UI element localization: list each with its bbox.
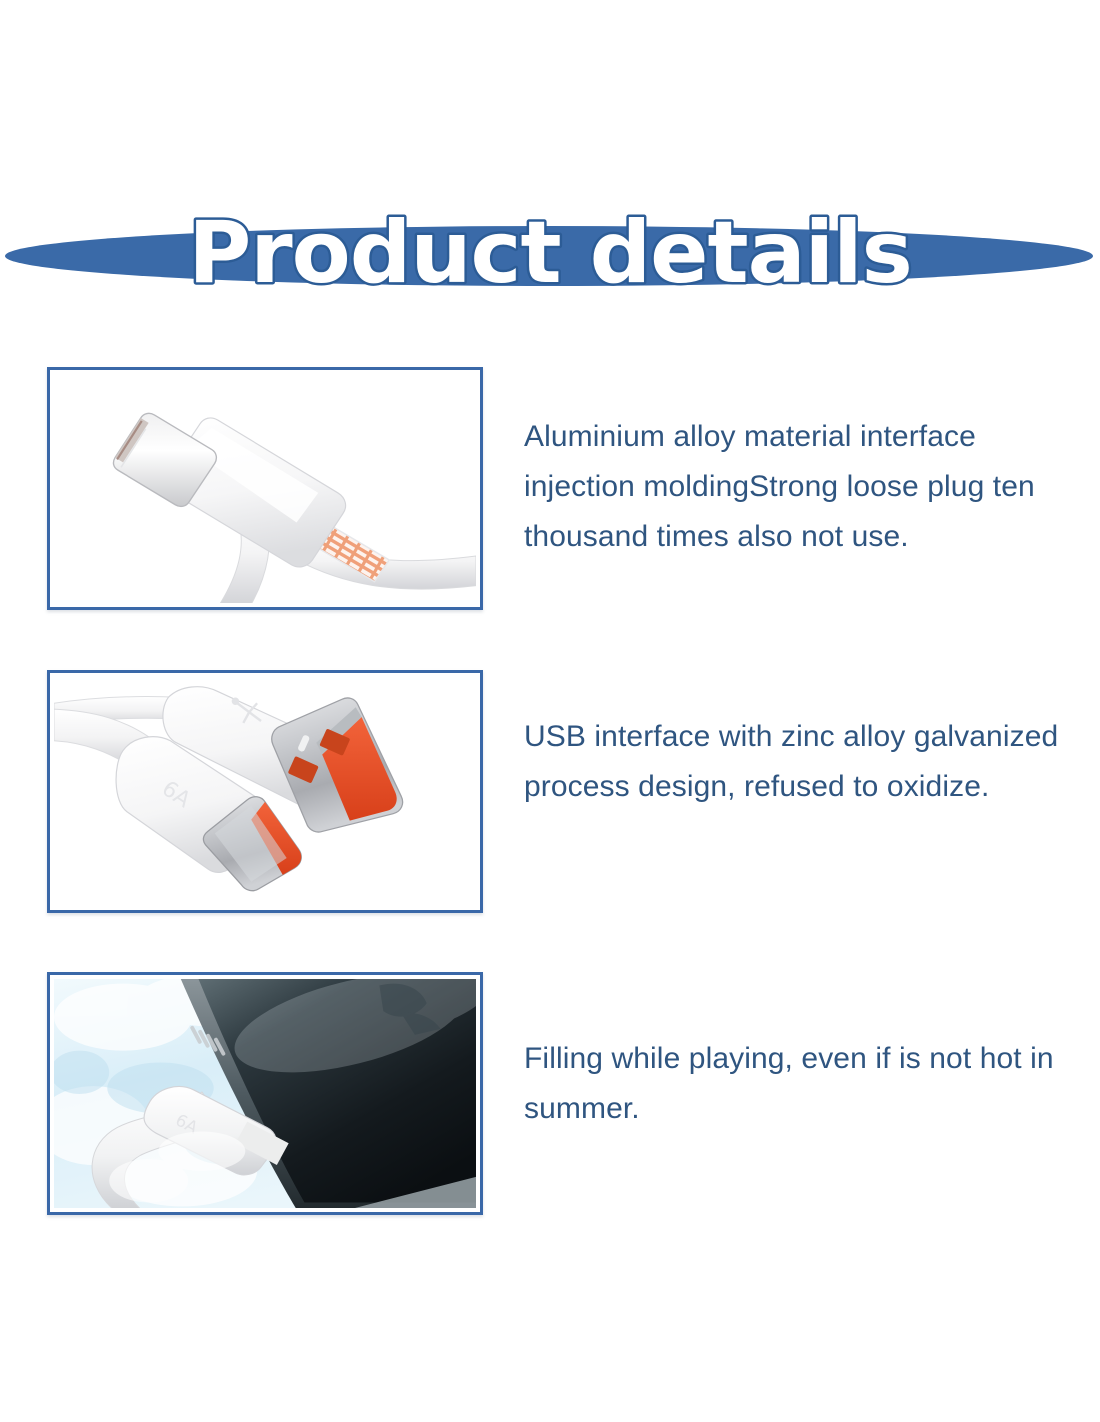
phone-charging-photo-frame[interactable]: 6A bbox=[47, 972, 483, 1215]
detail-text: Aluminium alloy material interface injec… bbox=[524, 412, 1064, 562]
page-title: Product details bbox=[0, 196, 1100, 314]
phone-charging-illustration: 6A bbox=[54, 979, 476, 1208]
usb-c-connector-illustration bbox=[54, 374, 476, 603]
page-title-text: Product details bbox=[188, 203, 912, 303]
detail-row: 6A Filling while playing, even if is not… bbox=[0, 972, 1100, 1215]
usb-c-connector-photo-frame[interactable] bbox=[47, 367, 483, 610]
detail-row: 6A USB interface with zinc alloy galvani… bbox=[0, 670, 1100, 915]
page-title-svg: Product details bbox=[190, 196, 910, 314]
detail-text: USB interface with zinc alloy galvanized… bbox=[524, 712, 1064, 812]
usb-a-and-usb-c-photo-frame[interactable]: 6A bbox=[47, 670, 483, 913]
phone-charging-photo: 6A bbox=[54, 979, 476, 1208]
usb-a-and-usb-c-photo: 6A bbox=[54, 677, 476, 906]
usb-c-connector-photo bbox=[54, 374, 476, 603]
header-banner: Product details bbox=[0, 196, 1100, 314]
detail-text: Filling while playing, even if is not ho… bbox=[524, 1034, 1064, 1134]
usb-connectors-illustration: 6A bbox=[54, 677, 476, 906]
detail-row: Aluminium alloy material interface injec… bbox=[0, 367, 1100, 612]
